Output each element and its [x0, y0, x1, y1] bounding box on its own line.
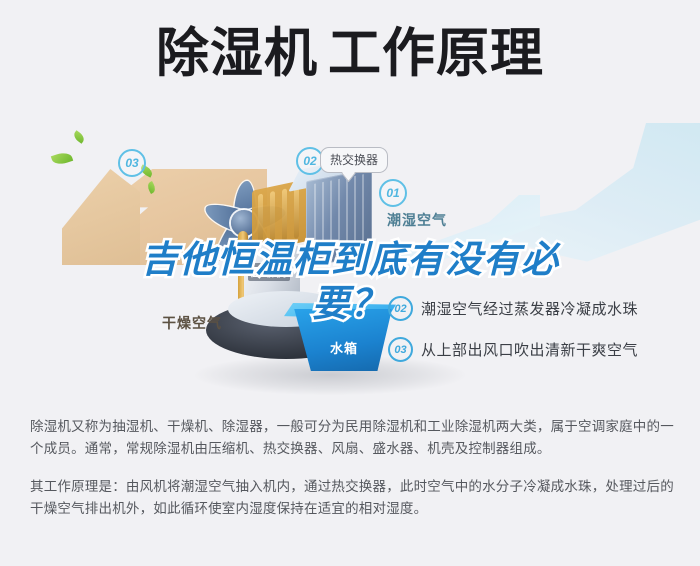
compressor-label: 压缩机: [248, 263, 290, 281]
humid-air-label: 潮湿空气: [387, 210, 447, 230]
legend-item: 03 从上部出风口吹出清新干爽空气: [388, 337, 688, 362]
water-tank-label: 水箱: [330, 338, 358, 357]
body-paragraph-1: 除湿机又称为抽湿机、干燥机、除湿器，一般可分为民用除湿机和工业除湿机两大类，属于…: [30, 416, 674, 460]
badge-01-humid-air: 01: [379, 179, 407, 207]
page-title: 除湿机工作原理: [0, 22, 700, 86]
title-text: 除湿机工作原理: [156, 22, 544, 86]
leaf-icon: [72, 130, 86, 144]
legend-badge-icon: 02: [388, 296, 413, 321]
body-copy: 除湿机又称为抽湿机、干燥机、除湿器，一般可分为民用除湿机和工业除湿机两大类，属于…: [30, 416, 674, 520]
legend-list: 02 潮湿空气经过蒸发器冷凝成水珠 03 从上部出风口吹出清新干爽空气: [388, 296, 688, 378]
poster-page: 除湿机工作原理: [0, 0, 700, 566]
legend-item: 02 潮湿空气经过蒸发器冷凝成水珠: [388, 296, 688, 321]
title-part-1: 除湿机: [156, 24, 318, 83]
body-paragraph-2: 其工作原理是：由风机将潮湿空气抽入机内，通过热交换器，此时空气中的水分子冷凝成水…: [30, 476, 674, 520]
dry-air-label: 干燥空气: [162, 313, 222, 333]
heat-exchanger-body: [306, 169, 372, 268]
legend-item-label: 潮湿空气经过蒸发器冷凝成水珠: [421, 298, 638, 319]
legend-badge-icon: 03: [388, 337, 413, 362]
title-part-2: 工作原理: [328, 24, 544, 83]
humid-air-flow-shape-secondary: [390, 195, 540, 270]
badge-03-dry-air: 03: [118, 149, 146, 177]
leaf-icon: [51, 150, 73, 167]
heat-exchanger-callout: 热交换器: [320, 147, 388, 173]
legend-item-label: 从上部出风口吹出清新干爽空气: [421, 339, 638, 360]
dry-air-arrow-tip: [62, 169, 140, 265]
